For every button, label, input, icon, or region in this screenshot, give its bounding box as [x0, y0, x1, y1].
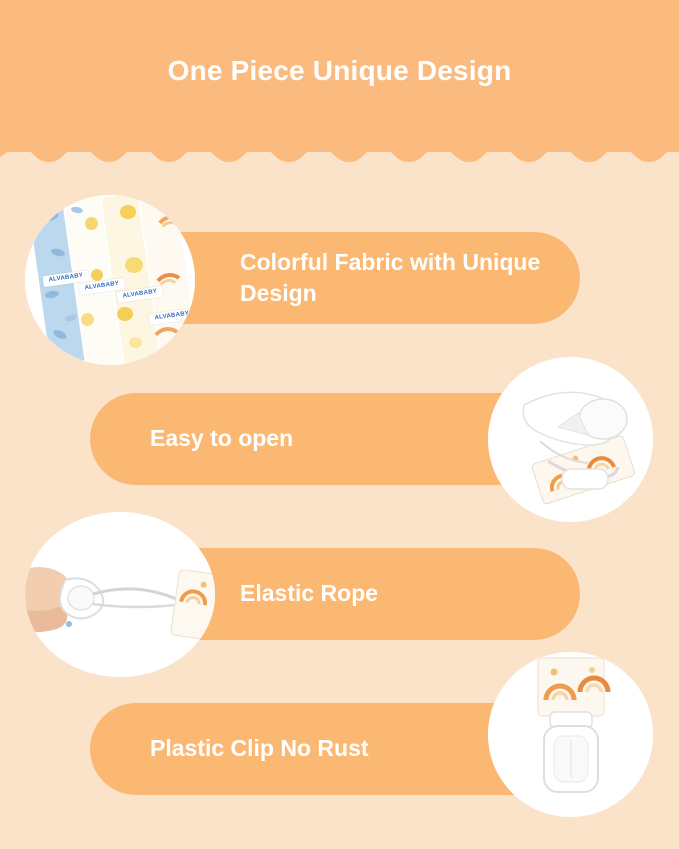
clip-open-illustration	[488, 357, 653, 522]
feature-row-easy-to-open: Easy to open	[0, 393, 679, 485]
feature-row-colorful-fabric: Colorful Fabric with Unique Design	[0, 232, 679, 324]
fabric-swatch-photo: ALVABABY ALVABABY ALVABABY ALVABABY	[25, 195, 195, 365]
plastic-clip-illustration	[488, 652, 653, 817]
feature-row-elastic-rope: Elastic Rope	[0, 548, 679, 640]
feature-label-plastic-clip: Plastic Clip No Rust	[90, 733, 519, 764]
scallop-divider	[0, 140, 679, 166]
page-title: One Piece Unique Design	[0, 55, 679, 87]
plastic-clip-photo	[488, 652, 653, 817]
elastic-rope-illustration	[25, 512, 215, 677]
infographic-page: One Piece Unique Design Colorful Fabric …	[0, 0, 679, 849]
clip-open-photo	[488, 357, 653, 522]
feature-label-easy-to-open: Easy to open	[90, 423, 443, 454]
header-banner: One Piece Unique Design	[0, 0, 679, 152]
feature-row-plastic-clip: Plastic Clip No Rust	[0, 703, 679, 795]
elastic-rope-photo	[25, 512, 215, 677]
